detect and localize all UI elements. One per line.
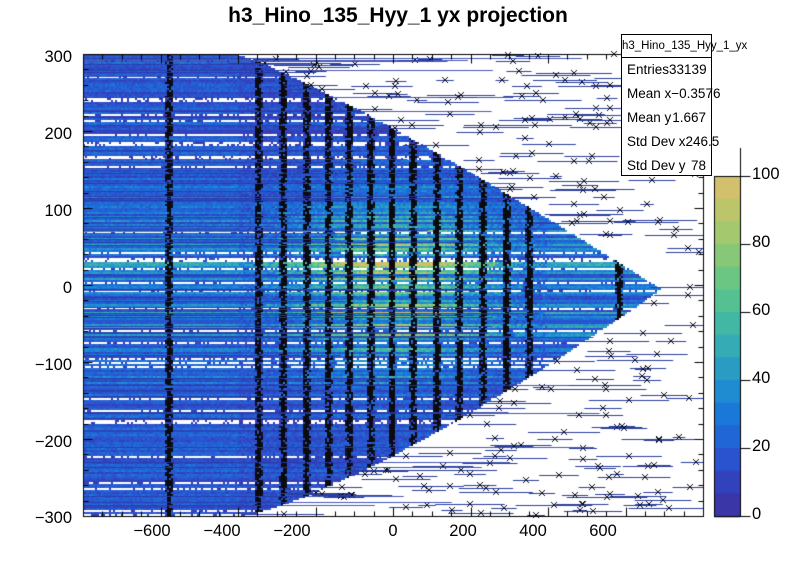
histogram-canvas xyxy=(0,0,796,572)
root-plot-canvas-container: h3_Hino_135_Hyy_1 yx projection 300 200 … xyxy=(0,0,796,572)
